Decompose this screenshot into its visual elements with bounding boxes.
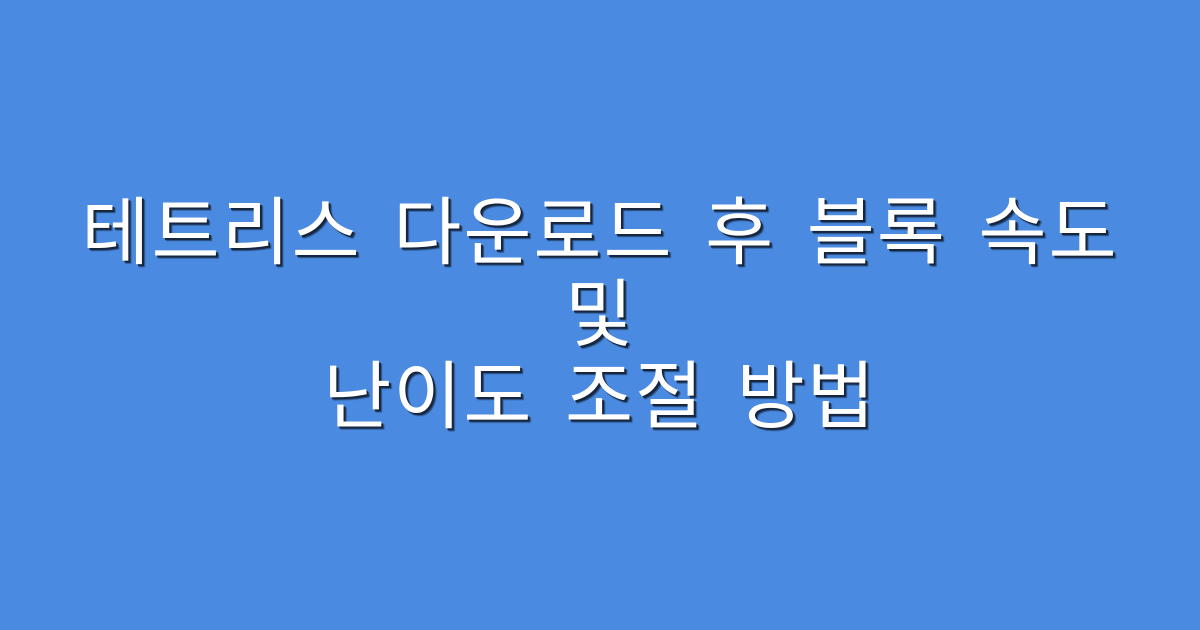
title-card: 테트리스 다운로드 후 블록 속도 및 난이도 조절 방법 (0, 0, 1200, 630)
page-title: 테트리스 다운로드 후 블록 속도 및 난이도 조절 방법 (50, 192, 1150, 438)
